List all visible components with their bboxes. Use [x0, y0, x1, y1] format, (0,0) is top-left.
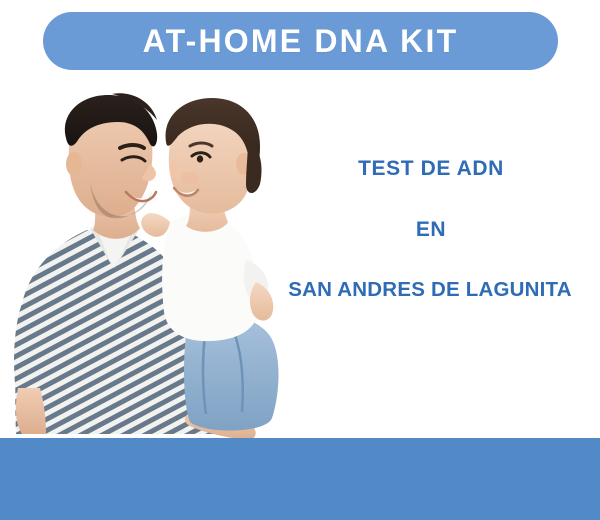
heading-block: TEST DE ADN EN SAN ANDRES DE LAGUNITA — [262, 158, 600, 301]
header-badge-label: AT-HOME DNA KIT — [143, 25, 459, 57]
heading-line-connector: EN — [262, 219, 600, 240]
poster-canvas: AT-HOME DNA KIT — [0, 0, 600, 520]
heading-line-service: TEST DE ADN — [262, 158, 600, 179]
heading-line-location: SAN ANDRES DE LAGUNITA — [260, 280, 600, 301]
family-photo — [0, 82, 304, 450]
header-badge: AT-HOME DNA KIT — [43, 12, 558, 70]
footer-bar: www.homednapaternitykit.com 1-877-219-44… — [0, 438, 600, 520]
